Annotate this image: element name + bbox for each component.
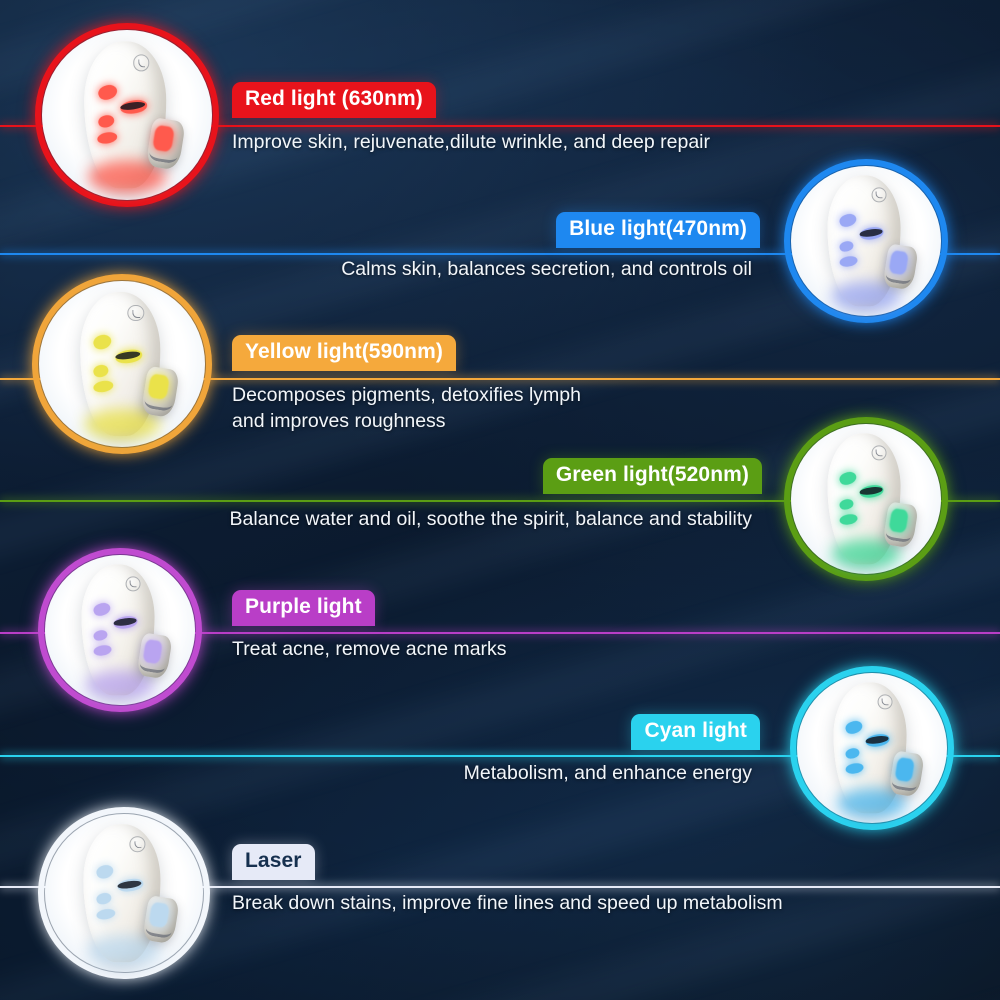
mask-photo-cyan	[790, 666, 954, 830]
power-button-icon	[871, 187, 886, 202]
led-mask-face	[77, 564, 164, 695]
section-description-purple: Treat acne, remove acne marks	[232, 636, 507, 662]
power-button-icon	[871, 445, 886, 460]
section-title-blue: Blue light(470nm)	[556, 212, 760, 248]
section-title-green: Green light(520nm)	[543, 458, 762, 494]
neck-strap	[139, 657, 166, 674]
power-button-icon	[877, 694, 892, 709]
section-description-laser: Break down stains, improve fine lines an…	[232, 890, 783, 916]
mask-photo-blue	[784, 159, 948, 323]
neck-strap	[891, 775, 918, 792]
led-mask-face	[74, 292, 169, 436]
power-button-icon	[133, 55, 150, 72]
neck-strap	[144, 921, 172, 939]
power-button-icon	[129, 837, 145, 853]
mask-photo-yellow	[32, 274, 212, 454]
mask-photo-laser	[38, 807, 210, 979]
section-description-green: Balance water and oil, soothe the spirit…	[230, 506, 752, 532]
neck-strap	[143, 393, 173, 412]
section-title-red: Red light (630nm)	[232, 82, 436, 118]
led-mask-face	[823, 175, 910, 306]
mask-photo-green	[784, 417, 948, 581]
section-title-cyan: Cyan light	[631, 714, 760, 750]
neck-strap	[149, 145, 179, 164]
section-title-laser: Laser	[232, 844, 315, 880]
section-title-purple: Purple light	[232, 590, 375, 626]
section-description-blue: Calms skin, balances secretion, and cont…	[341, 256, 752, 282]
neck-strap	[885, 268, 912, 285]
mask-photo-purple	[38, 548, 202, 712]
section-description-cyan: Metabolism, and enhance energy	[464, 760, 752, 786]
infographic-canvas: Red light (630nm)Improve skin, rejuvenat…	[0, 0, 1000, 1000]
power-button-icon	[125, 576, 140, 591]
led-mask-face	[78, 41, 176, 188]
mask-photo-red	[35, 23, 219, 207]
led-mask-face	[829, 682, 916, 813]
led-mask-face	[823, 433, 910, 564]
power-button-icon	[128, 305, 144, 321]
section-description-yellow: Decomposes pigments, detoxifies lymph an…	[232, 382, 581, 435]
section-title-yellow: Yellow light(590nm)	[232, 335, 456, 371]
led-mask-face	[78, 824, 169, 962]
section-description-red: Improve skin, rejuvenate,dilute wrinkle,…	[232, 129, 710, 155]
neck-strap	[885, 526, 912, 543]
